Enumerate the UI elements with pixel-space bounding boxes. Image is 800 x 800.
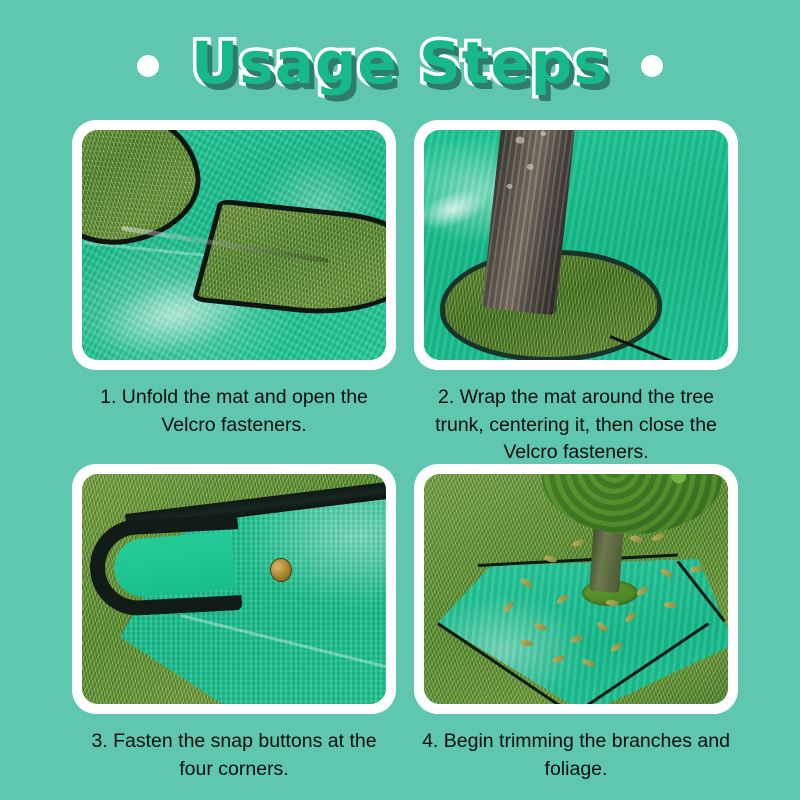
step-4-frame <box>414 464 738 714</box>
infographic-page: Usage Steps 1. Unfold the mat and open t… <box>0 0 800 800</box>
bullet-dot-left-icon <box>137 55 159 77</box>
step-2-caption: 2. Wrap the mat around the tree trunk, c… <box>421 384 731 467</box>
page-title: Usage Steps <box>189 30 611 102</box>
step-card-4: 4. Begin trimming the branches and folia… <box>404 464 748 783</box>
title-bar: Usage Steps <box>0 18 800 114</box>
step-4-caption: 4. Begin trimming the branches and folia… <box>421 728 731 783</box>
step-1-caption: 1. Unfold the mat and open the Velcro fa… <box>79 384 389 439</box>
step-2-photo <box>424 130 728 360</box>
steps-grid: 1. Unfold the mat and open the Velcro fa… <box>0 120 800 800</box>
step-card-3: 3. Fasten the snap buttons at the four c… <box>62 464 406 783</box>
step-4-photo <box>424 474 728 704</box>
step-2-frame <box>414 120 738 370</box>
step-1-frame <box>72 120 396 370</box>
carry-strap-handle <box>88 514 243 618</box>
step-3-caption: 3. Fasten the snap buttons at the four c… <box>79 728 389 783</box>
bullet-dot-right-icon <box>641 55 663 77</box>
step-3-photo <box>82 474 386 704</box>
step-card-1: 1. Unfold the mat and open the Velcro fa… <box>62 120 406 439</box>
step-card-2: 2. Wrap the mat around the tree trunk, c… <box>404 120 748 467</box>
step-3-frame <box>72 464 396 714</box>
step-1-photo <box>82 130 386 360</box>
